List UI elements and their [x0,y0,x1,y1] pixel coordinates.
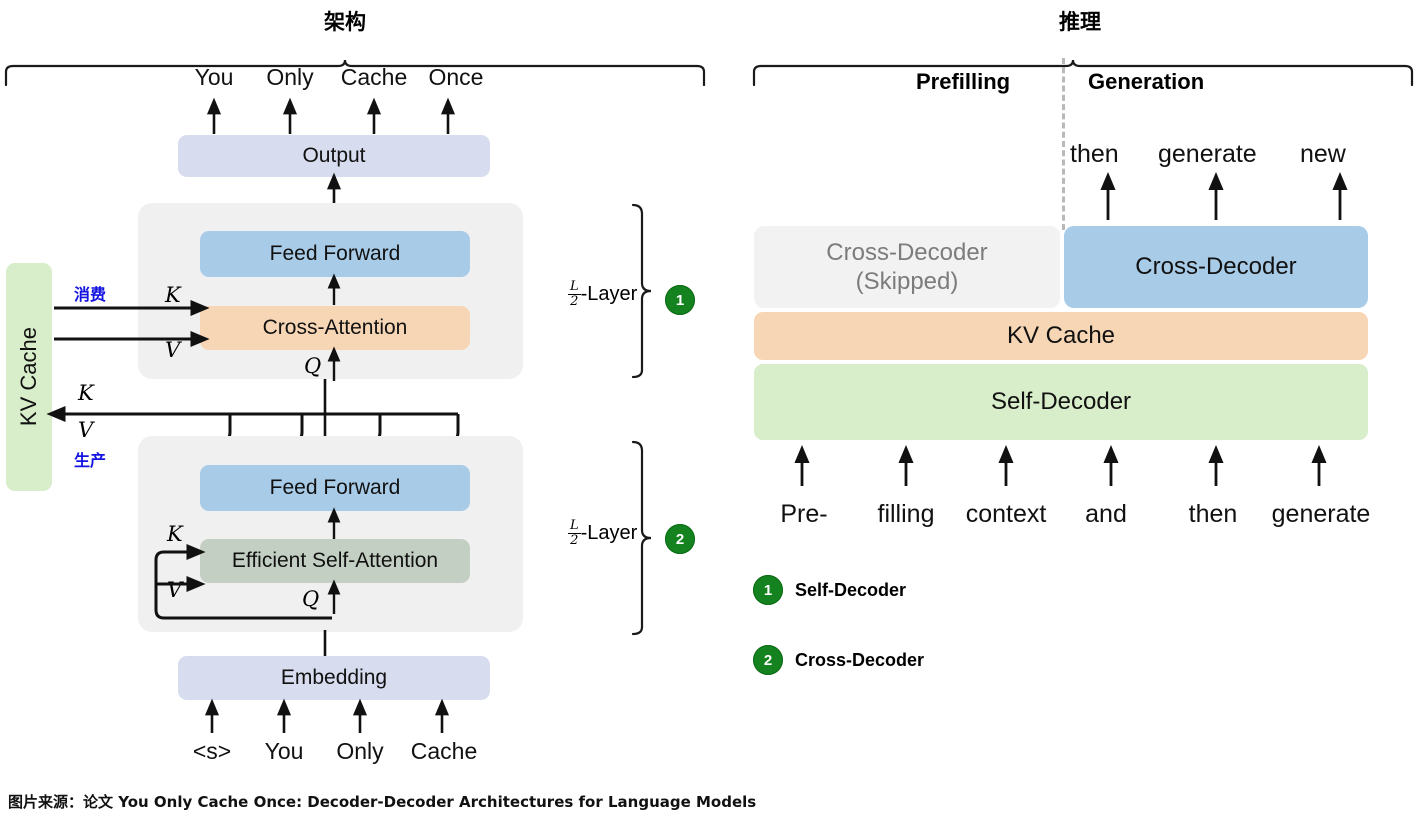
output-token: Once [416,64,496,91]
output-token: You [178,64,250,91]
cross-decoder-box: Cross-Decoder [1064,226,1368,308]
generated-token: then [1070,140,1148,169]
input-token-arrows [150,703,530,735]
legend-label-1: Self-Decoder [795,580,906,601]
arrow-selfattn-to-ff [310,511,360,541]
output-token: Only [254,64,326,91]
right-input-token: Pre- [762,500,846,529]
input-token: Only [322,738,398,765]
cross-decoder-skipped-line2: (Skipped) [856,268,959,296]
layer-fraction: L 2 [568,519,581,547]
layer-suffix: -Layer [581,522,638,545]
generated-token: new [1300,140,1380,169]
legend-item-cross-decoder: 2 Cross-Decoder [753,645,924,675]
kvcache-consume-arrows [52,296,212,356]
cross-decoder-feed-forward: Feed Forward [200,231,470,277]
cross-decoder-q-label: Q [304,354,321,378]
right-input-token: and [1068,500,1144,529]
right-input-token-arrows [754,450,1374,488]
output-token-arrows [150,100,530,136]
right-input-token: filling [860,500,952,529]
left-panel-brace [0,30,712,58]
source-caption: 图片来源：论文 You Only Cache Once: Decoder-Dec… [8,791,756,812]
cross-decoder-skipped-box: Cross-Decoder (Skipped) [754,226,1060,308]
phase-prefilling: Prefilling [916,69,1010,95]
right-input-token: context [953,500,1059,529]
cross-attention-box: Cross-Attention [200,306,470,350]
kv-cache-bar: KV Cache [754,312,1368,360]
right-input-token: generate [1258,500,1384,529]
cross-decoder-layer-label: L 2 -Layer [568,280,637,308]
layer-fraction: L 2 [568,280,581,308]
self-decoder-bar: Self-Decoder [754,364,1368,440]
self-decoder-feed-forward: Feed Forward [200,465,470,511]
legend-label-2: Cross-Decoder [795,650,924,671]
generated-token-arrows [1060,176,1380,222]
right-input-token: then [1170,500,1256,529]
kv-cache-vertical-box: KV Cache [6,263,52,491]
legend-item-self-decoder: 1 Self-Decoder [753,575,906,605]
legend-badge-2: 2 [753,645,783,675]
consume-annotation: 消费 [74,281,106,305]
output-token: Cache [332,64,416,91]
output-box: Output [178,135,490,177]
input-token: Cache [402,738,486,765]
input-token: You [248,738,320,765]
layer-suffix: -Layer [581,283,638,306]
phase-generation: Generation [1088,69,1204,95]
legend-badge-1: 1 [753,575,783,605]
embedding-box: Embedding [178,656,490,700]
selfattn-kv-loop [152,544,362,624]
arrow-q-cross-attention [320,350,360,382]
diagram-canvas: 架构 You Only Cache Once Output Feed Forwa… [0,0,1420,821]
cross-decoder-skipped-line1: Cross-Decoder [826,239,987,267]
produce-annotation: 生产 [74,447,106,471]
generated-token: generate [1158,140,1288,169]
trunk-selfdecoder-to-crossdecoder [318,379,332,441]
kv-cache-label: KV Cache [16,327,42,426]
badge-cross-decoder: 1 [665,285,695,315]
badge-self-decoder: 2 [665,524,695,554]
self-decoder-layer-label: L 2 -Layer [568,519,637,547]
right-panel-brace [748,30,1420,58]
input-token: <s> [174,738,250,765]
selfattn-k-label: K [167,522,183,546]
arrow-crossattn-to-ff [310,277,360,307]
